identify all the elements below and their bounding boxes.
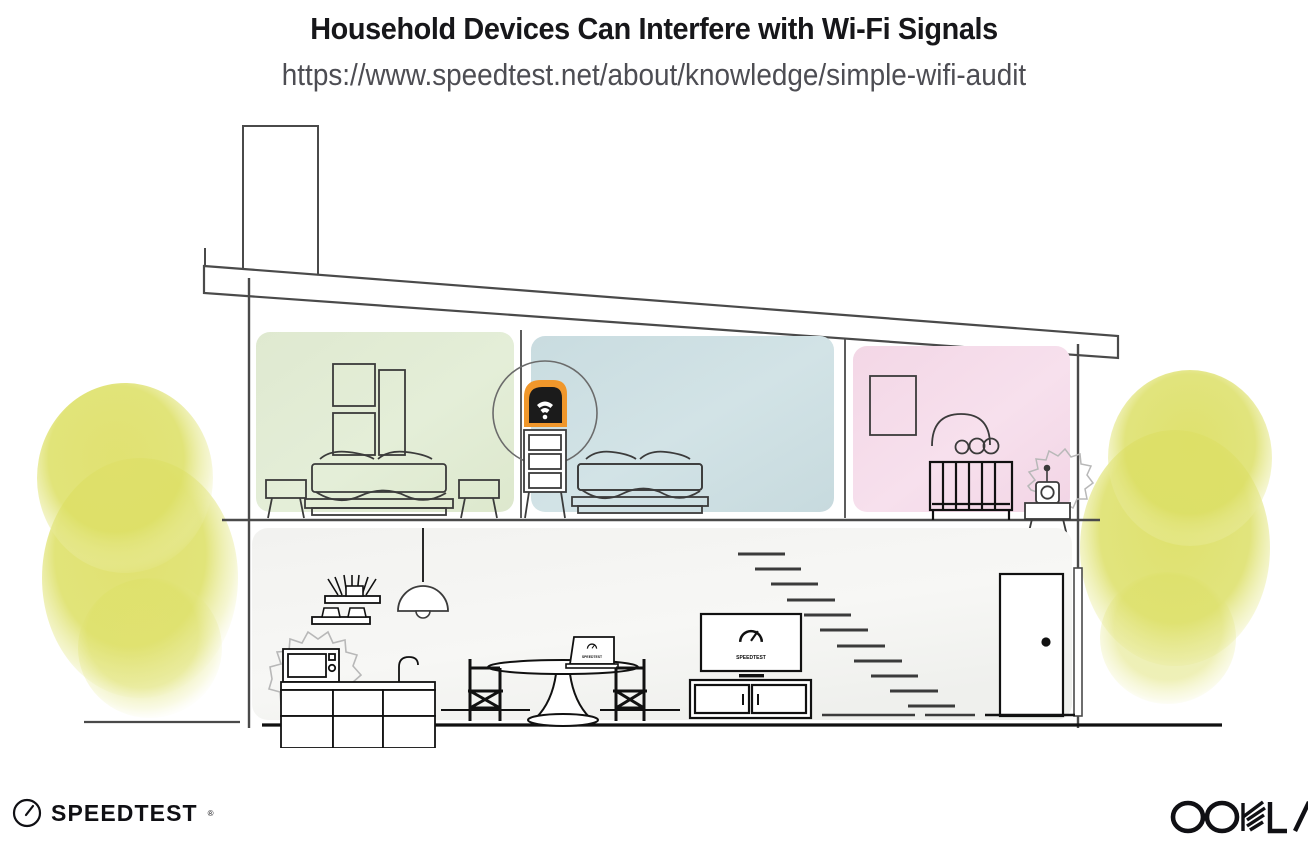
kitchen-cabinets (281, 682, 435, 748)
speedtest-trademark: ® (208, 809, 214, 818)
speedtest-gauge-icon (12, 798, 42, 828)
header: Household Devices Can Interfere with Wi-… (0, 0, 1308, 95)
foliage-left (37, 383, 238, 718)
speedtest-logo: SPEEDTEST ® (12, 798, 214, 828)
chimney (243, 126, 318, 278)
room-panel-bedroom-blue (531, 336, 834, 512)
media-console (690, 680, 811, 718)
page-title: Household Devices Can Interfere with Wi-… (46, 0, 1262, 49)
speedtest-wordmark: SPEEDTEST (51, 800, 198, 827)
front-door[interactable] (1000, 574, 1063, 716)
television: SPEEDTEST (701, 614, 801, 677)
source-url: https://www.speedtest.net/about/knowledg… (65, 49, 1242, 95)
foliage-right (1080, 370, 1272, 704)
door-knob-icon (1041, 637, 1050, 646)
laptop-brand-label: SPEEDTEST (582, 655, 603, 659)
microwave (283, 649, 339, 682)
wifi-router[interactable] (524, 380, 567, 427)
house-cutaway-illustration: SPEEDTEST (0, 108, 1308, 748)
room-panel-bedroom-green (256, 332, 514, 512)
tv-brand-label: SPEEDTEST (736, 655, 766, 661)
infographic-page: Household Devices Can Interfere with Wi-… (0, 0, 1308, 861)
laptop: SPEEDTEST (566, 637, 618, 668)
ookla-logo (1164, 796, 1308, 843)
footer: SPEEDTEST ® (0, 782, 1308, 850)
